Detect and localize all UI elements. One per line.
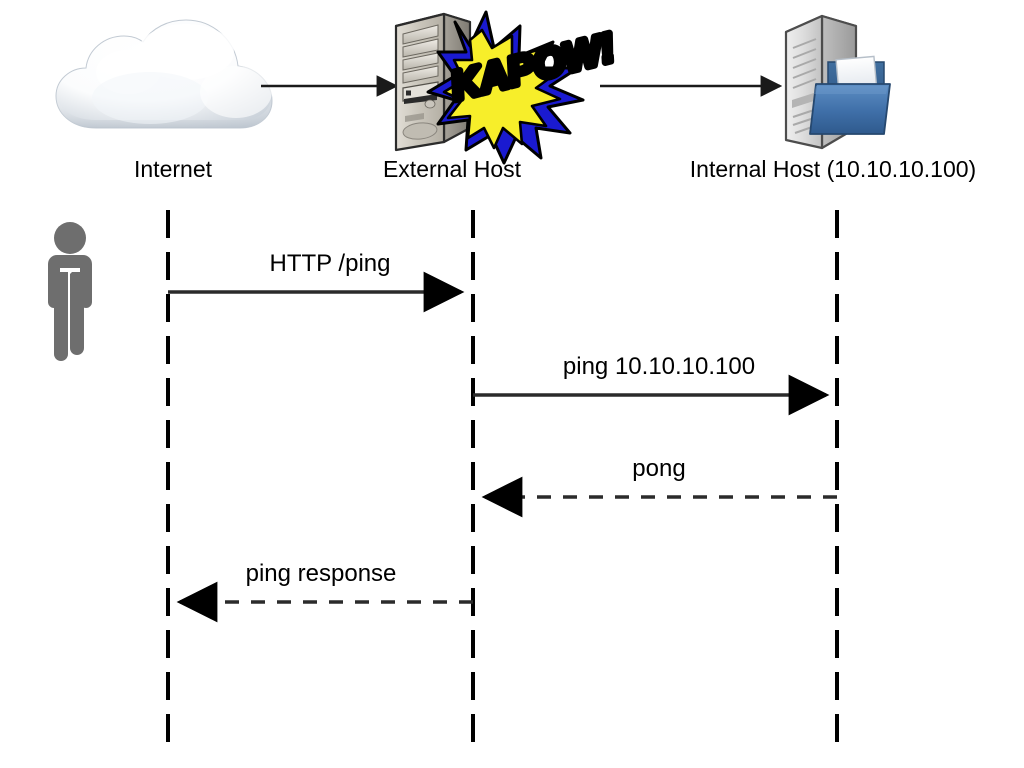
lifelines: [168, 210, 837, 742]
participant-label-internal-host: Internal Host (10.10.10.100): [690, 156, 976, 182]
message-label-pong: pong: [632, 455, 685, 482]
message-label-ping-response: ping response: [246, 560, 397, 587]
participant-label-external-host: External Host: [383, 156, 522, 182]
actor-stick-figure: [48, 222, 92, 361]
cloud-icon: [56, 20, 272, 128]
message-ping-ip: ping 10.10.10.100: [473, 353, 826, 395]
message-http-ping: HTTP /ping: [168, 250, 461, 292]
message-ping-response: ping response: [180, 560, 473, 602]
message-label-http-ping: HTTP /ping: [270, 250, 391, 277]
diagram-svg: Internet: [0, 0, 1024, 768]
participant-label-internet: Internet: [134, 156, 213, 182]
message-label-ping-ip: ping 10.10.10.100: [563, 353, 755, 380]
message-pong: pong: [485, 455, 837, 497]
server-folder-icon: [786, 16, 890, 148]
sequence-diagram-canvas: Internet: [0, 0, 1024, 768]
